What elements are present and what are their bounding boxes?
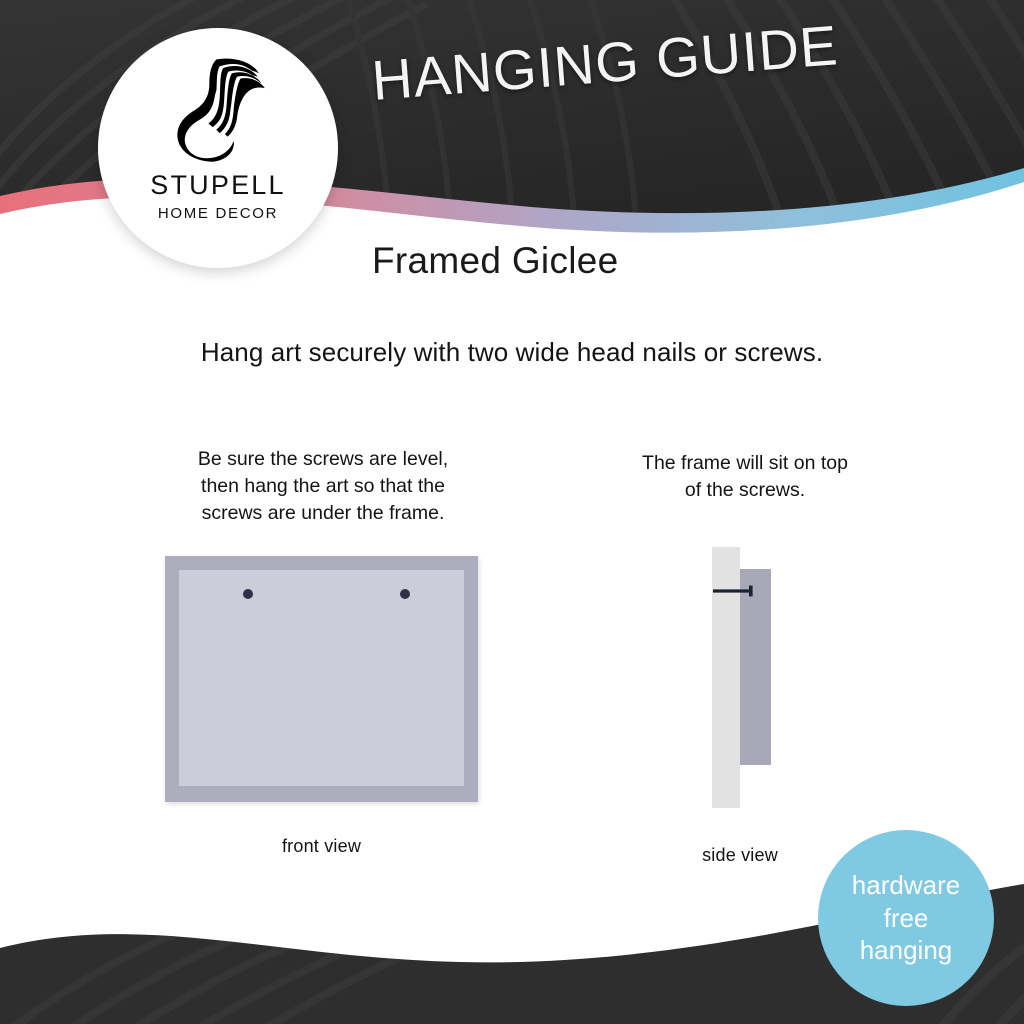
product-type-label: Framed Giclee	[372, 240, 619, 282]
screw-dot-left-icon	[243, 589, 253, 599]
stupell-swoosh-logo-icon	[166, 54, 270, 162]
brand-name-primary: STUPELL	[150, 172, 285, 199]
side-view-note-line-2: of the screws.	[600, 477, 890, 504]
badge-line-1: hardware	[852, 869, 960, 902]
front-view-frame-diagram	[165, 556, 478, 802]
front-view-note-line-1: Be sure the screws are level,	[158, 446, 488, 473]
front-view-note: Be sure the screws are level, then hang …	[158, 446, 488, 527]
front-view-art-panel	[179, 570, 464, 786]
side-view-note-line-1: The frame will sit on top	[600, 450, 890, 477]
hanging-guide-page: STUPELL HOME DECOR HANGING GUIDE Framed …	[0, 0, 1024, 1024]
front-view-caption: front view	[200, 836, 443, 857]
main-instruction-text: Hang art securely with two wide head nai…	[0, 337, 1024, 368]
badge-line-3: hanging	[860, 934, 953, 967]
front-view-note-line-2: then hang the art so that the	[158, 473, 488, 500]
brand-name-secondary: HOME DECOR	[158, 206, 278, 221]
side-view-note: The frame will sit on top of the screws.	[600, 450, 890, 504]
front-view-note-line-3: screws are under the frame.	[158, 500, 488, 527]
screw-nail-icon	[713, 585, 759, 597]
screw-dot-right-icon	[400, 589, 410, 599]
hardware-free-hanging-badge: hardware free hanging	[818, 830, 994, 1006]
badge-line-2: free	[884, 902, 929, 935]
side-view-frame-diagram	[712, 547, 788, 809]
side-view-frame-bar	[740, 569, 771, 765]
page-title: HANGING GUIDE	[370, 12, 841, 113]
side-view-caption: side view	[650, 845, 830, 866]
brand-logo-badge: STUPELL HOME DECOR	[98, 28, 338, 268]
